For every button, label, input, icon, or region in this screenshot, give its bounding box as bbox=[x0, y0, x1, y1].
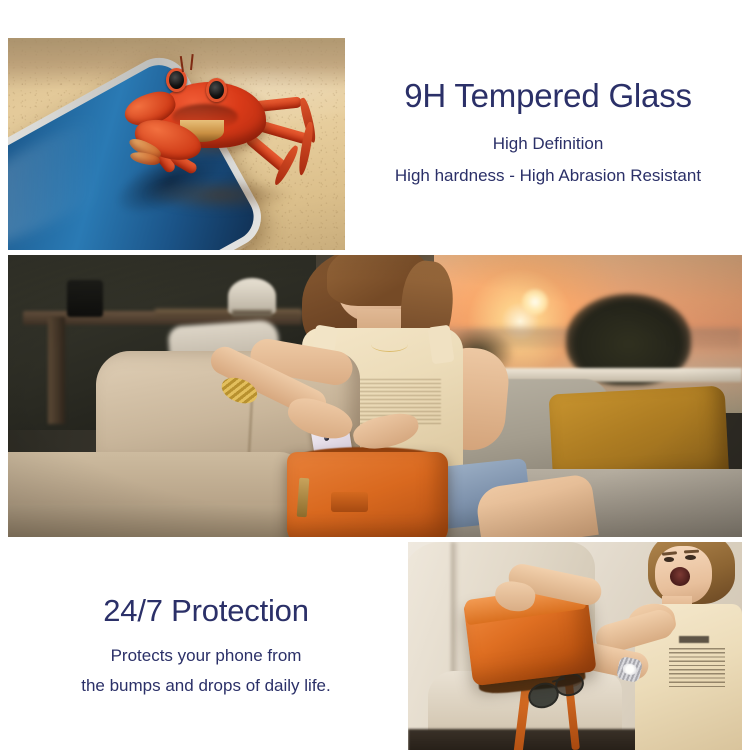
crab bbox=[120, 60, 325, 218]
protection-text-block: 24/7 Protection Protects your phone from… bbox=[10, 592, 402, 698]
tempered-glass-subtitle-2: High hardness - High Abrasion Resistant bbox=[352, 164, 744, 188]
crab-leg-tip-2 bbox=[297, 121, 315, 176]
tempered-glass-headline: 9H Tempered Glass bbox=[352, 76, 744, 116]
crab-shadow bbox=[144, 178, 294, 212]
tank-top-print-body bbox=[669, 648, 726, 690]
photo-bag-dropping-items bbox=[408, 542, 742, 750]
protection-subtitle-2: the bumps and drops of daily life. bbox=[10, 674, 402, 698]
tempered-glass-text-block: 9H Tempered Glass High Definition High h… bbox=[352, 76, 744, 188]
product-feature-collage: 9H Tempered Glass High Definition High h… bbox=[0, 0, 750, 750]
woman-eye-left bbox=[664, 557, 675, 562]
crab-eye-right bbox=[206, 78, 227, 102]
crab-antenna-right bbox=[190, 54, 194, 70]
woman-open-mouth bbox=[670, 567, 690, 586]
tank-top-print-heading bbox=[679, 636, 709, 643]
tempered-glass-subtitle-1: High Definition bbox=[352, 132, 744, 156]
protection-headline: 24/7 Protection bbox=[10, 592, 402, 630]
woman-eye-right bbox=[685, 555, 696, 560]
watch-face bbox=[622, 663, 638, 676]
photo-crab-on-phone bbox=[8, 38, 345, 250]
photo-woman-phone-into-bag bbox=[8, 255, 742, 537]
protection-subtitle-1: Protects your phone from bbox=[10, 644, 402, 668]
photo-vignette bbox=[8, 255, 742, 537]
